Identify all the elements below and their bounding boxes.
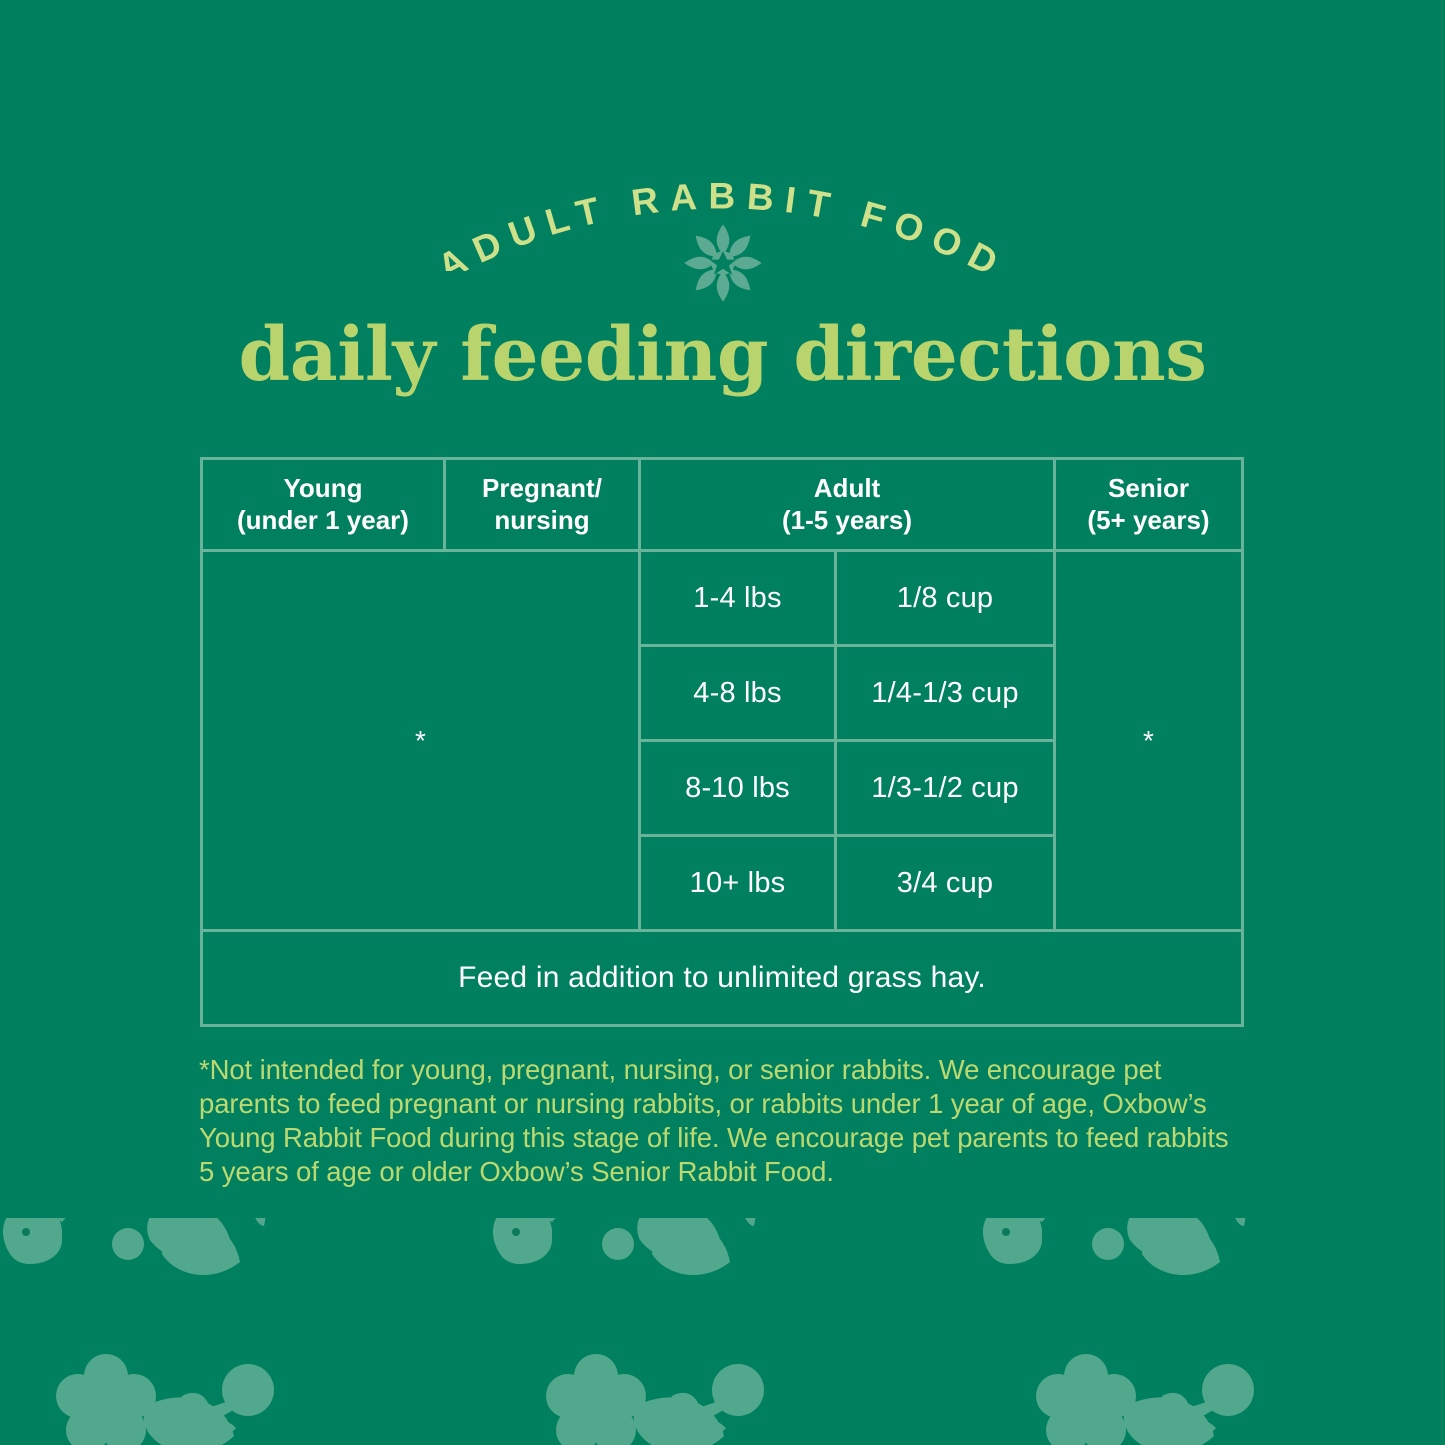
column-header-young-line2: (under 1 year)	[237, 505, 409, 537]
column-header-pregnant-line2: nursing	[494, 505, 589, 537]
cell-senior-asterisk: *	[1056, 552, 1241, 932]
young-pregnant-asterisk-value: *	[415, 725, 426, 757]
cell-young-pregnant-asterisk: *	[203, 552, 641, 932]
column-header-senior-line1: Senior	[1108, 473, 1189, 505]
table-row: 1-4 lbs 1/8 cup	[641, 552, 1053, 647]
adult-amount-cell: 1/4-1/3 cup	[837, 647, 1053, 739]
column-header-young-line1: Young	[284, 473, 363, 505]
adult-weight-cell: 1-4 lbs	[641, 552, 837, 644]
feeding-directions-table: Young (under 1 year) Pregnant/ nursing A…	[200, 457, 1244, 1027]
table-body-band: * 1-4 lbs 1/8 cup 4-8 lbs 1/4-1/3 cup 8-…	[203, 552, 1241, 932]
column-header-senior: Senior (5+ years)	[1056, 460, 1241, 552]
adult-subtable: 1-4 lbs 1/8 cup 4-8 lbs 1/4-1/3 cup 8-10…	[641, 552, 1056, 932]
feeding-directions-panel: ADULT RABBIT FOOD	[0, 0, 1445, 1445]
adult-amount-cell: 1/3-1/2 cup	[837, 742, 1053, 834]
column-header-pregnant-line1: Pregnant/	[482, 473, 602, 505]
adult-weight-cell: 10+ lbs	[641, 837, 837, 929]
adult-weight-cell: 8-10 lbs	[641, 742, 837, 834]
column-header-senior-line2: (5+ years)	[1087, 505, 1209, 537]
column-header-adult-line1: Adult	[814, 473, 880, 505]
adult-weight-cell: 4-8 lbs	[641, 647, 837, 739]
column-header-pregnant: Pregnant/ nursing	[446, 460, 641, 552]
botanical-rabbit-pattern	[0, 1218, 1445, 1445]
column-header-adult-line2: (1-5 years)	[782, 505, 912, 537]
table-row: 8-10 lbs 1/3-1/2 cup	[641, 742, 1053, 837]
footnote-text: *Not intended for young, pregnant, nursi…	[199, 1053, 1249, 1189]
column-header-adult: Adult (1-5 years)	[641, 460, 1056, 552]
adult-amount-cell: 3/4 cup	[837, 837, 1053, 929]
rosette-flower-icon	[681, 221, 765, 305]
page-title: daily feeding directions	[0, 318, 1445, 392]
table-header-row: Young (under 1 year) Pregnant/ nursing A…	[203, 460, 1241, 552]
senior-asterisk-value: *	[1143, 725, 1154, 757]
adult-amount-cell: 1/8 cup	[837, 552, 1053, 644]
table-row: 10+ lbs 3/4 cup	[641, 837, 1053, 929]
column-header-young: Young (under 1 year)	[203, 460, 446, 552]
table-footer-note: Feed in addition to unlimited grass hay.	[203, 932, 1241, 1024]
table-row: 4-8 lbs 1/4-1/3 cup	[641, 647, 1053, 742]
